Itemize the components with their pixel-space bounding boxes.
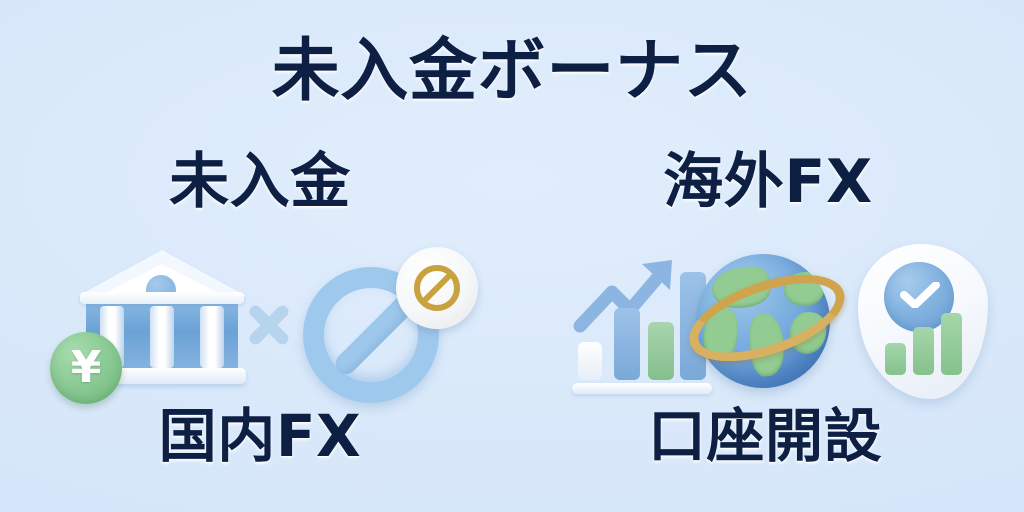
chart-bar — [648, 322, 674, 380]
multiply-icon — [241, 296, 297, 352]
bank-icon: ¥ — [72, 248, 252, 393]
checkmark-icon — [900, 282, 940, 308]
prohibition-icon — [303, 247, 479, 402]
right-panel-caption: 口座開設 — [540, 407, 990, 465]
prohibition-badge-icon — [396, 247, 478, 329]
yen-coin-icon: ¥ — [50, 332, 122, 404]
poster-canvas: 未入金ボーナス 未入金 ¥ 国内FX 海外FX — [0, 0, 1024, 512]
left-panel-caption: 国内FX — [40, 407, 480, 465]
chart-bar — [578, 342, 602, 380]
left-panel-heading: 未入金 — [40, 152, 480, 212]
bank-column — [150, 306, 174, 368]
bank-column — [200, 306, 224, 368]
verified-badge-icon — [858, 244, 988, 399]
badge-bar — [913, 327, 934, 375]
yen-symbol: ¥ — [71, 346, 102, 390]
badge-bar — [941, 313, 962, 375]
chart-bar — [614, 308, 640, 380]
globe-icon — [690, 248, 842, 398]
badge-bar — [885, 343, 906, 375]
page-title: 未入金ボーナス — [0, 38, 1024, 106]
prohibition-badge-ring — [414, 265, 460, 311]
bank-lintel-shape — [80, 292, 244, 304]
right-panel-heading: 海外FX — [548, 152, 988, 212]
growth-chart-icon — [572, 248, 704, 398]
